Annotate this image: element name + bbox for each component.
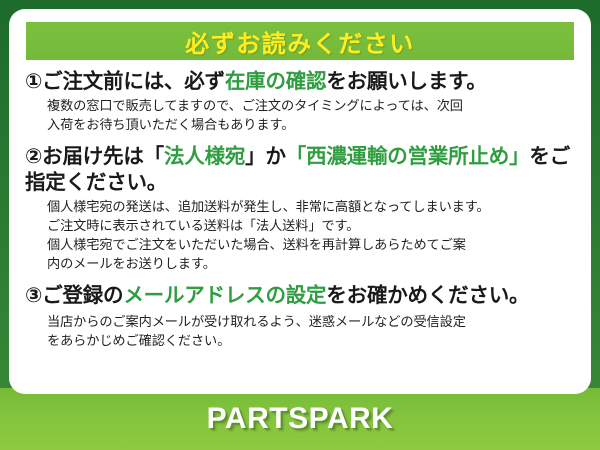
notice-item-1-heading-part-2: 在庫の確認 — [225, 70, 327, 93]
notice-item-2-body-line-2: ご注文時に表示されている送料は「法人送料」です。 — [47, 216, 575, 235]
notice-item-2-heading-part-2: 法人様宛 — [164, 145, 245, 168]
notice-item-3-body-line-1: 当店からのご案内メールが受け取れるよう、迷惑メールなどの受信設定 — [47, 312, 575, 331]
notice-item-2-body: 個人様宅宛の発送は、追加送料が発生し、非常に高額となってしまいます。ご注文時に表… — [47, 197, 575, 274]
page-title: 必ずお読みください — [185, 24, 415, 59]
content-panel: 必ずお読みください ①ご注文前には、必ず在庫の確認をお願いします。複数の窓口で販… — [9, 9, 591, 394]
notice-item-2-heading: ②お届け先は「法人様宛」か「西濃運輸の営業所止め」をご指定ください。 — [25, 144, 575, 196]
notice-card: 必ずお読みください ①ご注文前には、必ず在庫の確認をお願いします。複数の窓口で販… — [0, 0, 600, 450]
notice-item-1: ①ご注文前には、必ず在庫の確認をお願いします。複数の窓口で販売してますので、ご注… — [25, 69, 575, 135]
header-banner: 必ずお読みください — [26, 22, 574, 60]
notice-item-1-body-line-2: 入荷をお待ち頂いただく場合もあります。 — [47, 115, 575, 134]
notice-item-1-heading-part-1: ①ご注文前には、必ず — [25, 70, 225, 93]
notice-item-3-body-line-2: をあらかじめご確認ください。 — [47, 331, 575, 350]
notice-item-2-heading-part-3: 」か — [245, 145, 286, 168]
notice-item-3-heading-part-3: をお確かめください。 — [326, 284, 529, 307]
notice-item-2-body-line-3: 個人様宅宛でご注文をいただいた場合、送料を再計算しあらためてご案 — [47, 235, 575, 254]
notice-item-2-body-line-1: 個人様宅宛の発送は、追加送料が発生し、非常に高額となってしまいます。 — [47, 197, 575, 216]
notice-item-2-heading-part-1: ②お届け先は「 — [25, 145, 164, 168]
notice-item-2-body-line-4: 内のメールをお送りします。 — [47, 254, 575, 273]
notices-list: ①ご注文前には、必ず在庫の確認をお願いします。複数の窓口で販売してますので、ご注… — [25, 69, 575, 350]
notice-item-3-heading: ③ご登録のメールアドレスの設定をお確かめください。 — [25, 283, 575, 309]
notice-item-3-body: 当店からのご案内メールが受け取れるよう、迷惑メールなどの受信設定をあらかじめご確… — [47, 312, 575, 350]
brand-logo: PARTSPARK — [207, 402, 394, 436]
notice-item-1-heading-part-3: をお願いします。 — [326, 70, 486, 93]
notice-item-1-body-line-1: 複数の窓口で販売してますので、ご注文のタイミングによっては、次回 — [47, 96, 575, 115]
notice-item-1-heading: ①ご注文前には、必ず在庫の確認をお願いします。 — [25, 69, 575, 95]
notice-item-1-body: 複数の窓口で販売してますので、ご注文のタイミングによっては、次回入荷をお待ち頂い… — [47, 96, 575, 134]
notice-item-2-heading-part-4: 「西濃運輸の営業所止め」 — [286, 145, 530, 168]
notice-item-3-heading-part-1: ③ご登録の — [25, 284, 123, 307]
footer-banner: PARTSPARK — [0, 388, 600, 450]
notice-item-3: ③ご登録のメールアドレスの設定をお確かめください。当店からのご案内メールが受け取… — [25, 283, 575, 351]
notice-item-2: ②お届け先は「法人様宛」か「西濃運輸の営業所止め」をご指定ください。個人様宅宛の… — [25, 144, 575, 274]
notice-item-3-heading-part-2: メールアドレスの設定 — [123, 284, 326, 307]
